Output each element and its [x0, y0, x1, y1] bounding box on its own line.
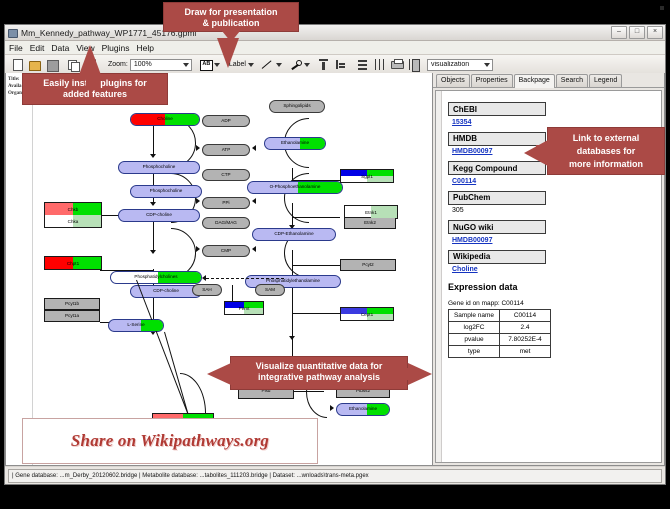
- gene-node-sgpl1[interactable]: Sgpl1: [340, 169, 394, 183]
- gene-node-pcyt1b[interactable]: Pcyt1b: [44, 298, 100, 310]
- node-label: Ethanolamine: [281, 141, 309, 146]
- visualization-combo[interactable]: visualization: [427, 59, 493, 71]
- status-bar: | Gene database: ...m_Derby_20120602.bri…: [5, 467, 665, 484]
- tab-objects[interactable]: Objects: [436, 74, 470, 87]
- stack-icon[interactable]: [354, 57, 371, 73]
- cell-value: 7.80252E-4: [500, 334, 551, 346]
- metabolite-node-choline[interactable]: Choline: [130, 113, 200, 126]
- distribute-icon[interactable]: [371, 57, 388, 73]
- node-label: SAH: [202, 288, 211, 293]
- metabolite-node-phosphocholine[interactable]: Phosphocholine: [118, 161, 200, 174]
- arrowhead: [330, 405, 334, 411]
- table-row: type met: [449, 346, 551, 358]
- gene-id-line: Gene id on mapp: C00114: [448, 300, 655, 307]
- metabolite-node-ethanolamine[interactable]: Ethanolamine: [264, 137, 326, 150]
- zoom-label: Zoom:: [108, 61, 128, 68]
- node-label: Sphingolipids: [283, 104, 310, 109]
- cell-key: pvalue: [449, 334, 500, 346]
- table-row: Sample name C00114: [449, 310, 551, 322]
- cell-value: C00114: [500, 310, 551, 322]
- callout-plugins-stem: [86, 75, 98, 87]
- callout-link: Link to external databases for more info…: [547, 127, 665, 175]
- callout-share: Share on Wikipathways.org: [22, 418, 318, 464]
- node-label: Phosphatidylethanolamine: [266, 279, 320, 284]
- info-label-title: Title:: [8, 77, 20, 82]
- order-icon[interactable]: [332, 57, 349, 73]
- arrowhead: [196, 246, 200, 252]
- edge: [292, 217, 340, 218]
- menu-file[interactable]: File: [9, 43, 23, 53]
- metabolite-node-phosphatidylcholines[interactable]: Phosphatidylcholines: [110, 271, 202, 284]
- db-value-pubchem: 305: [452, 207, 655, 214]
- node-label: L-Serine: [127, 323, 144, 328]
- pathvisio-icon: [8, 28, 17, 37]
- edge: [292, 313, 340, 314]
- zoom-value: 100%: [134, 61, 152, 68]
- align-icon[interactable]: [315, 57, 332, 73]
- metabolite-node-sphingolipids[interactable]: Sphingolipids: [269, 100, 325, 113]
- node-label: Phosphocholine: [143, 165, 176, 170]
- line-icon[interactable]: [259, 57, 276, 73]
- edge: [153, 125, 154, 157]
- menubar: File Edit Data View Plugins Help: [5, 41, 665, 55]
- db-link-nugo[interactable]: HMDB00097: [452, 237, 655, 244]
- metabolite-node-o-phosphoethanolamine[interactable]: O-Phosphoethanolamine: [247, 181, 343, 194]
- metabolite-node-ethanolamine-right[interactable]: Ethanolamine: [336, 403, 390, 416]
- node-label: ADP: [221, 119, 230, 124]
- cell-key: Sample name: [449, 310, 500, 322]
- cell-value: 2.4: [500, 322, 551, 334]
- metabolite-node-atp[interactable]: ATP: [202, 144, 250, 156]
- tab-backpage[interactable]: Backpage: [514, 74, 555, 88]
- save-icon[interactable]: [43, 57, 60, 73]
- node-label: Pcyt1b: [65, 302, 79, 307]
- db-link-chebi[interactable]: 15354: [452, 119, 655, 126]
- metabolite-node-cmp[interactable]: CMP: [202, 245, 250, 257]
- table-row: pvalue 7.80252E-4: [449, 334, 551, 346]
- edge: [153, 221, 154, 253]
- tab-properties[interactable]: Properties: [471, 74, 513, 87]
- node-label: Etnk1: [365, 210, 377, 215]
- metabolite-node-l-serine-left[interactable]: L-Serine: [108, 319, 164, 332]
- callout-visualize-stem-l: [220, 368, 234, 380]
- node-label: Phosphatidylcholines: [134, 275, 177, 280]
- cell-key: type: [449, 346, 500, 358]
- db-link-kegg[interactable]: C00114: [452, 178, 655, 185]
- status-text: | Gene database: ...m_Derby_20120602.bri…: [8, 469, 662, 483]
- node-label: Ethanolamine: [349, 407, 377, 412]
- node-label: CDP-Ethanolamine: [274, 232, 313, 237]
- node-label: PPi: [222, 201, 229, 206]
- arrowhead: [150, 154, 156, 158]
- node-label: O-Phosphoethanolamine: [270, 185, 321, 190]
- metabolite-node[interactable]: Phosphocholine: [130, 185, 202, 198]
- node-label: ATP: [222, 148, 231, 153]
- callout-visualize-stem-r: [404, 368, 414, 380]
- node-label: SAM: [265, 288, 275, 293]
- side-panel-tabs: Objects Properties Backpage Search Legen…: [433, 73, 664, 88]
- open-folder-icon[interactable]: [26, 57, 43, 73]
- db-link-wikipedia[interactable]: Choline: [452, 266, 655, 273]
- interaction-anchor-icon[interactable]: [287, 57, 304, 73]
- metabolite-node-ppi[interactable]: PPi: [202, 197, 250, 209]
- edge: [232, 285, 233, 301]
- node-label: CDP-choline: [153, 289, 179, 294]
- info-label-available: Availa: [8, 84, 22, 89]
- gene-node-chka[interactable]: Chka: [44, 214, 102, 228]
- info-label-organism: Organ: [8, 91, 22, 96]
- callout-draw: Draw for presentation & publication: [163, 2, 299, 32]
- arrowhead: [202, 275, 206, 281]
- node-label: DAG/MAG: [215, 221, 237, 226]
- callout-plugins-arrow: [79, 45, 101, 75]
- line-tool[interactable]: [259, 57, 282, 73]
- expression-data-heading: Expression data: [448, 282, 655, 292]
- decoration-dot: [660, 6, 664, 10]
- tab-search[interactable]: Search: [556, 74, 588, 87]
- node-label: Pcyt2: [362, 263, 374, 268]
- expression-table: Sample name C00114 log2FC 2.4 pvalue 7.8…: [448, 309, 551, 358]
- node-label: Pemt: [239, 306, 250, 311]
- window-titlebar: Mm_Kennedy_pathway_WP1771_45176.gpml – □…: [5, 25, 665, 41]
- new-file-icon[interactable]: [9, 57, 26, 73]
- chevron-down-icon: [484, 63, 490, 67]
- db-header-chebi: ChEBI: [448, 102, 546, 116]
- cell-value: met: [500, 346, 551, 358]
- zoom-combo[interactable]: 100%: [130, 59, 192, 71]
- canvas-margin-rule: [32, 73, 33, 465]
- edge: [292, 265, 340, 266]
- pathway-canvas[interactable]: Title: Availa Organ: [5, 73, 433, 466]
- data-node-icon[interactable]: AB: [197, 57, 214, 73]
- gene-node-etnk2[interactable]: Etnk2: [344, 217, 396, 229]
- metabolite-node-sah[interactable]: SAH: [192, 284, 222, 296]
- metabolite-node-cdp-ethanolamine[interactable]: CDP-Ethanolamine: [252, 228, 336, 241]
- metabolite-node-sam[interactable]: SAM: [255, 284, 285, 296]
- chevron-down-icon[interactable]: [248, 63, 254, 67]
- cell-key: log2FC: [449, 322, 500, 334]
- arrowhead: [252, 198, 256, 204]
- tab-legend[interactable]: Legend: [589, 74, 622, 87]
- chevron-down-icon[interactable]: [276, 63, 282, 67]
- node-label: Etnk2: [364, 221, 376, 226]
- node-label: CDP-choline: [146, 213, 172, 218]
- node-label: Chkb: [68, 207, 79, 212]
- arrowhead: [196, 145, 200, 151]
- gene-node-chpt1[interactable]: Chpt1: [44, 256, 102, 270]
- db-header-pubchem: PubChem: [448, 191, 546, 205]
- toggle-sidebar-icon[interactable]: [405, 57, 422, 73]
- edge: [292, 391, 324, 392]
- node-label: Chpt1: [67, 261, 79, 266]
- gene-node-pemt[interactable]: Pemt: [224, 301, 264, 315]
- menu-data[interactable]: Data: [51, 43, 69, 53]
- minimize-button[interactable]: –: [611, 26, 627, 39]
- close-button[interactable]: ×: [647, 26, 663, 39]
- arrowhead: [252, 246, 256, 252]
- metabolite-node-ctp[interactable]: CTP: [202, 169, 250, 181]
- maximize-button[interactable]: □: [629, 26, 645, 39]
- gene-node-pcyt1a[interactable]: Pcyt1a: [44, 310, 100, 322]
- gene-node-pcyt2[interactable]: Pcyt2: [340, 259, 396, 271]
- node-label: Sgpl1: [361, 174, 373, 179]
- gene-node-chkb[interactable]: Chkb: [44, 202, 102, 216]
- menu-help[interactable]: Help: [137, 43, 154, 53]
- node-label: CMP: [221, 249, 231, 254]
- node-label: Chka: [68, 219, 79, 224]
- menu-edit[interactable]: Edit: [30, 43, 45, 53]
- callout-link-stem: [536, 145, 550, 159]
- visualization-value: visualization: [431, 61, 469, 68]
- callout-draw-arrow: [217, 38, 239, 68]
- metabolite-node-dagmag[interactable]: DAG/MAG: [202, 217, 250, 229]
- interaction-anchor-tool[interactable]: [287, 57, 310, 73]
- menu-plugins[interactable]: Plugins: [102, 43, 130, 53]
- screenshot-root: Mm_Kennedy_pathway_WP1771_45176.gpml – □…: [0, 0, 670, 509]
- window-controls: – □ ×: [611, 26, 663, 39]
- db-header-nugo: NuGO wiki: [448, 220, 546, 234]
- db-header-wikipedia: Wikipedia: [448, 250, 546, 264]
- chevron-down-icon[interactable]: [304, 63, 310, 67]
- arrowhead: [150, 250, 156, 254]
- toolbar: Zoom: 100% AB Label: [5, 55, 665, 75]
- node-label: CTP: [221, 173, 230, 178]
- arrowhead: [150, 202, 156, 206]
- chevron-down-icon: [183, 63, 189, 67]
- metabolite-node-cdp-choline[interactable]: CDP-choline: [118, 209, 200, 222]
- print-icon[interactable]: [388, 57, 405, 73]
- gene-node-cept1[interactable]: Cept1: [340, 307, 394, 321]
- node-label: Choline: [157, 117, 173, 122]
- callout-visualize: Visualize quantitative data for integrat…: [230, 356, 408, 390]
- node-label: Cept1: [361, 312, 373, 317]
- share-text: Share on Wikipathways.org: [71, 431, 269, 451]
- metabolite-node-adp[interactable]: ADP: [202, 115, 250, 127]
- node-label: Phosphocholine: [150, 189, 183, 194]
- pathway-drawing[interactable]: Title: Availa Organ: [6, 73, 432, 465]
- arrowhead: [196, 198, 200, 204]
- node-label: Pcyt1a: [65, 314, 79, 319]
- table-row: log2FC 2.4: [449, 322, 551, 334]
- arrowhead: [252, 145, 256, 151]
